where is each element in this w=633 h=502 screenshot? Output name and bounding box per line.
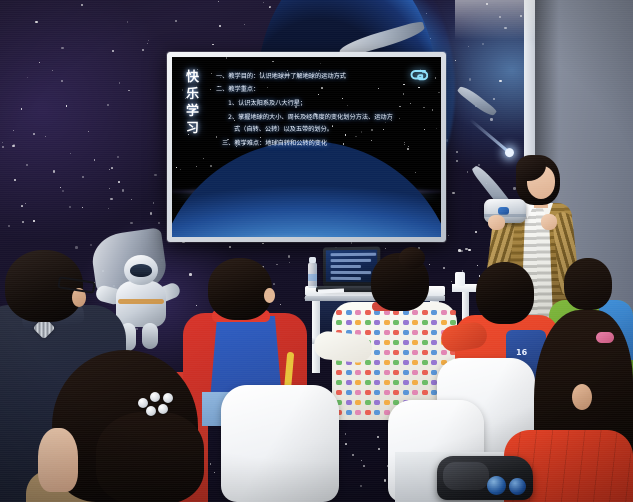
boy-head (208, 258, 272, 320)
mural-top-glow (455, 0, 535, 40)
slide-vertical-title: 快 乐 学 习 (186, 69, 208, 137)
pearl-hair-clip (163, 393, 173, 403)
classroom-chair[interactable] (221, 385, 339, 502)
pearl-hair-clip (150, 392, 160, 402)
cup (455, 272, 465, 286)
woman-hand (38, 428, 78, 492)
vtitle-char-1: 乐 (186, 86, 208, 103)
laptop-screen (326, 250, 377, 283)
slide-line: 1、认识太阳系及八大行星； (228, 98, 433, 109)
slide-line: 2、掌握地球的大小、周长及经纬度的变化划分方法、运动方 (228, 112, 433, 123)
vtitle-char-3: 习 (186, 120, 208, 137)
spiral-logo-icon (409, 67, 429, 87)
slide-text-lines: 一、教学目的：认识地球并了解地球的运动方式 二、教学重点： 1、认识太阳系及八大… (216, 71, 433, 149)
slide-line: 三、教学难点：地球自转和公转的变化 (222, 138, 433, 149)
woman-ponytail (96, 412, 204, 502)
vtitle-char-0: 快 (186, 69, 208, 86)
headset-face-pad (443, 462, 489, 490)
wall-display[interactable]: 快 乐 学 习 一、教学目的：认识地球并了解地球的运动方式 二、教学重点： 1、… (167, 52, 446, 242)
backpack-number: 16 (516, 348, 527, 357)
child-head (564, 258, 612, 310)
hair-tie (596, 332, 614, 343)
headset-lens (509, 478, 526, 495)
slide-line: 一、教学目的：认识地球并了解地球的运动方式 (216, 71, 433, 82)
girl-ear (572, 384, 592, 410)
girl-hair-bun (399, 247, 425, 269)
bottle-label (308, 274, 317, 281)
slide-line: 二、教学重点： (216, 84, 433, 95)
bottle-cap (309, 257, 316, 263)
photo-scene: 快 乐 学 习 一、教学目的：认识地球并了解地球的运动方式 二、教学重点： 1、… (0, 0, 633, 502)
child-head (476, 262, 534, 324)
slide-line: 式（自转、公转）以及五带的划分。 (234, 124, 433, 135)
boy-ear (264, 288, 275, 303)
display-screen: 快 乐 学 习 一、教学目的：认识地球并了解地球的运动方式 二、教学重点： 1、… (172, 57, 441, 237)
teacher-right-hand (541, 214, 557, 230)
pearl-hair-clip (146, 406, 156, 416)
headset-lens (487, 476, 506, 495)
teacher-left-hand (488, 215, 505, 230)
pearl-hair-clip (158, 404, 168, 414)
slide-content: 快 乐 学 习 一、教学目的：认识地球并了解地球的运动方式 二、教学重点： 1、… (172, 57, 441, 237)
vtitle-char-2: 学 (186, 103, 208, 120)
vr-headset[interactable] (437, 456, 533, 500)
